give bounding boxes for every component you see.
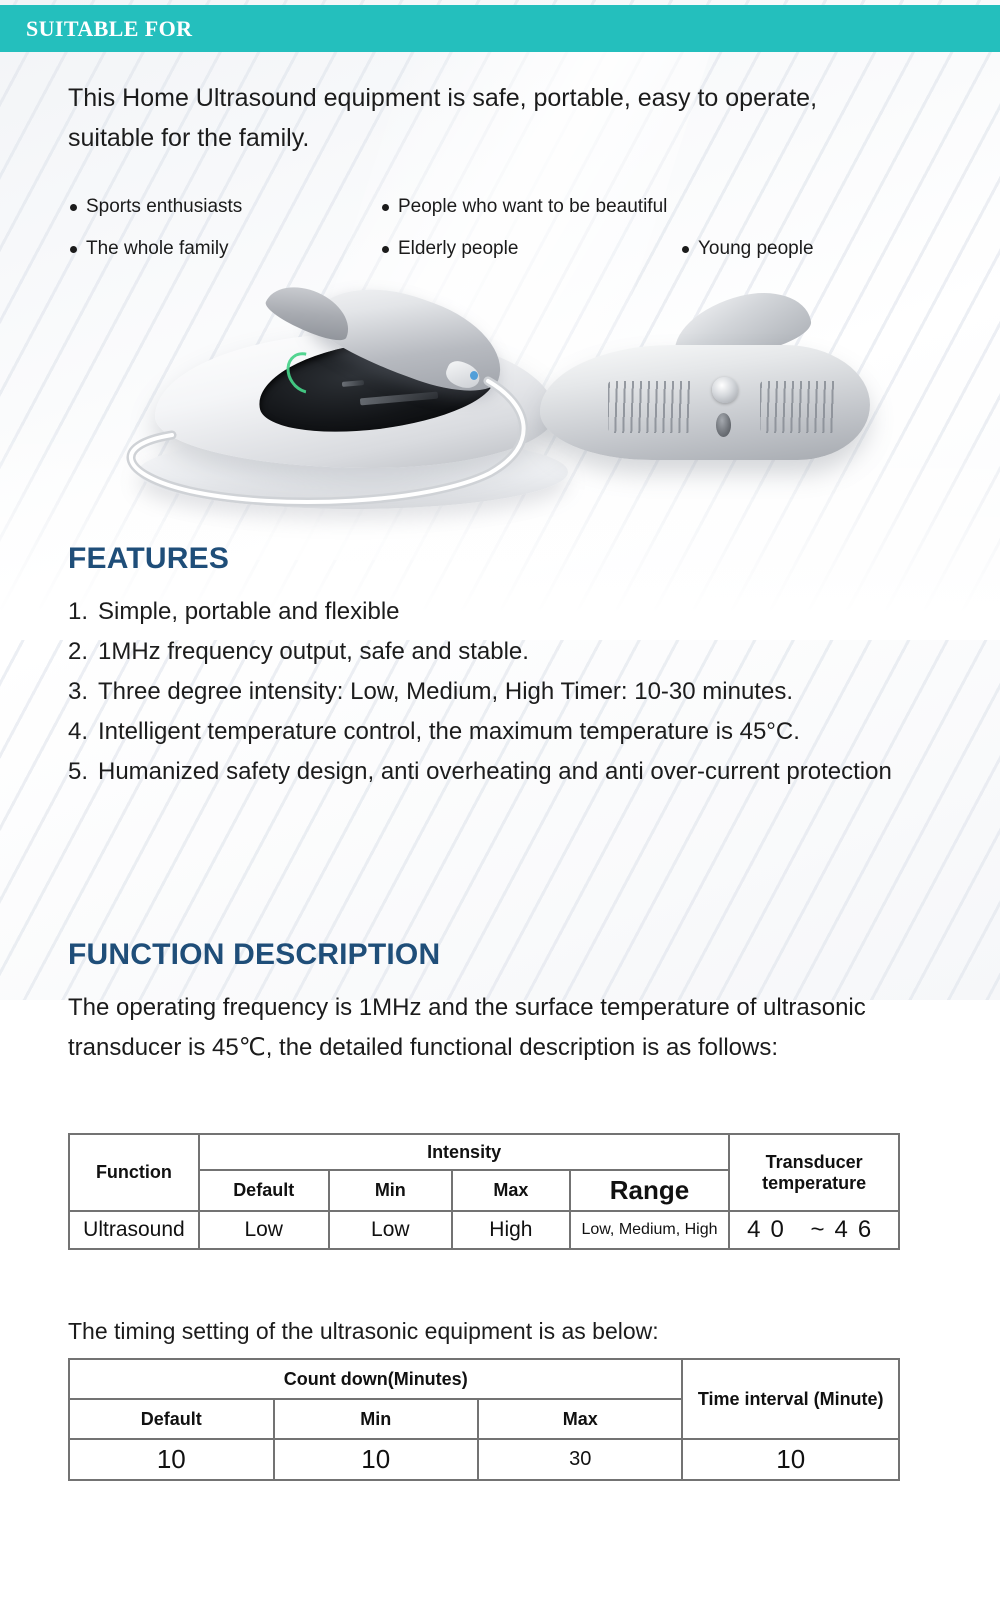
vent-grille-right bbox=[760, 381, 838, 433]
bullet-dot-icon bbox=[70, 204, 77, 211]
list-item: 2. 1MHz frequency output, safe and stabl… bbox=[68, 632, 898, 672]
table-header-row: Function Intensity Transducer temperatur… bbox=[69, 1134, 899, 1170]
banner-title: SUITABLE FOR bbox=[0, 16, 192, 42]
header-count-down: Count down(Minutes) bbox=[69, 1359, 682, 1399]
header-transducer-temperature: Transducer temperature bbox=[729, 1134, 899, 1211]
list-item: Elderly people bbox=[382, 238, 682, 260]
table-row: 10 10 30 10 bbox=[69, 1439, 899, 1480]
features-heading: FEATURES bbox=[68, 542, 229, 576]
list-item-number: 5. bbox=[68, 752, 98, 792]
list-item: 1. Simple, portable and flexible bbox=[68, 592, 898, 632]
table-row: Ultrasound Low Low High Low, Medium, Hig… bbox=[69, 1211, 899, 1249]
header-intensity: Intensity bbox=[199, 1134, 729, 1170]
list-item-text: Three degree intensity: Low, Medium, Hig… bbox=[98, 672, 898, 712]
product-photo bbox=[60, 285, 940, 520]
bullet-row: Sports enthusiasts People who want to be… bbox=[70, 186, 930, 228]
cell-default: Low bbox=[199, 1211, 329, 1249]
bullet-dot-icon bbox=[682, 246, 689, 253]
bullet-row: The whole family Elderly people Young pe… bbox=[70, 228, 930, 270]
cell-range: Low, Medium, High bbox=[570, 1211, 730, 1249]
list-item: 3. Three degree intensity: Low, Medium, … bbox=[68, 672, 898, 712]
product-spec-page: SUITABLE FOR This Home Ultrasound equipm… bbox=[0, 0, 1000, 1623]
list-item: 5. Humanized safety design, anti overhea… bbox=[68, 752, 898, 792]
list-item-number: 4. bbox=[68, 712, 98, 752]
cell-max: High bbox=[452, 1211, 570, 1249]
bullet-dot-icon bbox=[70, 246, 77, 253]
intro-paragraph: This Home Ultrasound equipment is safe, … bbox=[68, 78, 868, 158]
table-header-row: Count down(Minutes) Time interval (Minut… bbox=[69, 1359, 899, 1399]
bullet-label: People who want to be beautiful bbox=[398, 196, 667, 218]
cell-default: 10 bbox=[69, 1439, 274, 1480]
features-list: 1. Simple, portable and flexible 2. 1MHz… bbox=[68, 592, 898, 792]
header-time-interval: Time interval (Minute) bbox=[682, 1359, 899, 1439]
header-function: Function bbox=[69, 1134, 199, 1211]
cell-min: 10 bbox=[274, 1439, 478, 1480]
list-item: Young people bbox=[682, 238, 922, 260]
list-item-number: 1. bbox=[68, 592, 98, 632]
bullet-label: Young people bbox=[698, 238, 814, 260]
bullet-dot-icon bbox=[382, 204, 389, 211]
cell-transducer-temperature: 40 ~46 bbox=[729, 1211, 899, 1249]
bullet-dot-icon bbox=[382, 246, 389, 253]
cell-time-interval: 10 bbox=[682, 1439, 899, 1480]
subheader-min: Min bbox=[329, 1170, 453, 1211]
bullet-label: Elderly people bbox=[398, 238, 518, 260]
timing-settings-table: Count down(Minutes) Time interval (Minut… bbox=[68, 1358, 900, 1481]
list-item-text: Intelligent temperature control, the max… bbox=[98, 712, 898, 752]
cell-function: Ultrasound bbox=[69, 1211, 199, 1249]
list-item: 4. Intelligent temperature control, the … bbox=[68, 712, 898, 752]
function-description-paragraph: The operating frequency is 1MHz and the … bbox=[68, 988, 928, 1068]
connector-port bbox=[716, 413, 731, 437]
vent-grille-left bbox=[608, 381, 694, 433]
list-item: Sports enthusiasts bbox=[70, 196, 382, 218]
subheader-max: Max bbox=[478, 1399, 682, 1439]
list-item-text: Humanized safety design, anti overheatin… bbox=[98, 752, 898, 792]
subheader-default: Default bbox=[69, 1399, 274, 1439]
subheader-min: Min bbox=[274, 1399, 478, 1439]
subheader-max: Max bbox=[452, 1170, 570, 1211]
control-knob bbox=[712, 377, 738, 403]
cell-max: 30 bbox=[478, 1439, 682, 1480]
list-item-number: 3. bbox=[68, 672, 98, 712]
subheader-range: Range bbox=[570, 1170, 730, 1211]
list-item: People who want to be beautiful bbox=[382, 196, 682, 218]
function-description-heading: FUNCTION DESCRIPTION bbox=[68, 938, 440, 972]
list-item-text: Simple, portable and flexible bbox=[98, 592, 898, 632]
function-intensity-table: Function Intensity Transducer temperatur… bbox=[68, 1133, 900, 1250]
list-item-number: 2. bbox=[68, 632, 98, 672]
timing-intro-text: The timing setting of the ultrasonic equ… bbox=[68, 1318, 659, 1345]
audience-bullet-list: Sports enthusiasts People who want to be… bbox=[70, 186, 930, 270]
bullet-label: The whole family bbox=[86, 238, 229, 260]
suitable-for-banner: SUITABLE FOR bbox=[0, 5, 1000, 52]
bullet-label: Sports enthusiasts bbox=[86, 196, 242, 218]
cell-min: Low bbox=[329, 1211, 453, 1249]
list-item: The whole family bbox=[70, 238, 382, 260]
list-item-text: 1MHz frequency output, safe and stable. bbox=[98, 632, 898, 672]
subheader-default: Default bbox=[199, 1170, 329, 1211]
